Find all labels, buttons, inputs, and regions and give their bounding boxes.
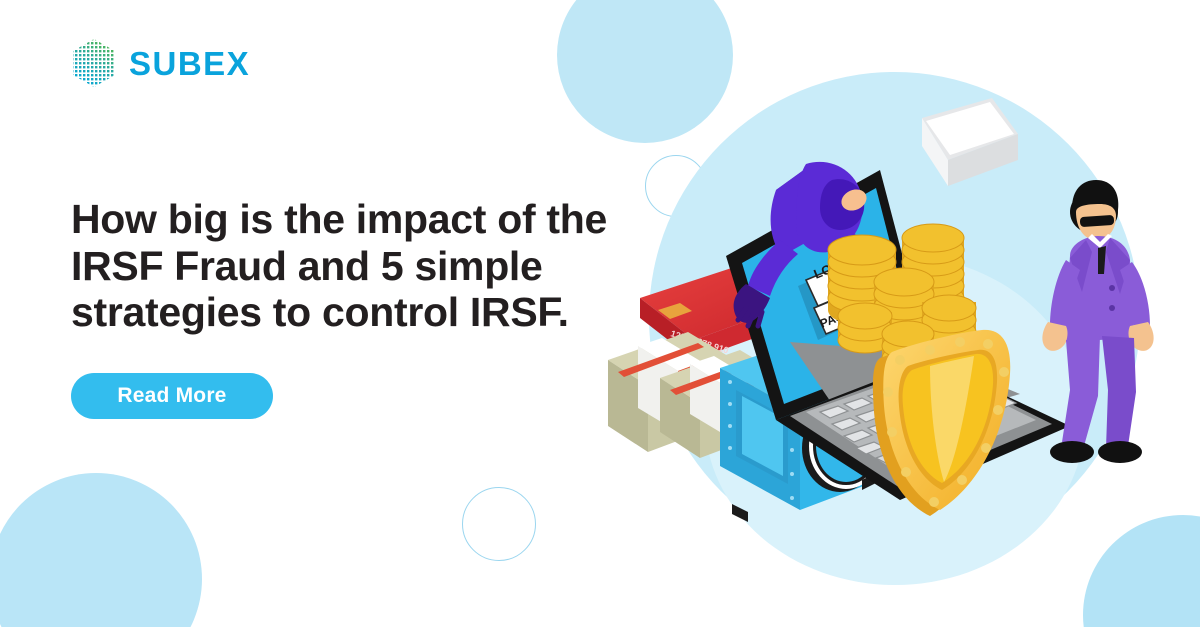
decorative-ring-bottom-center bbox=[462, 487, 536, 561]
headline-line-1: How big is the impact of the bbox=[71, 196, 671, 243]
read-more-button[interactable]: Read More bbox=[71, 373, 273, 419]
decorative-circle-bottom-left bbox=[0, 473, 202, 627]
man-in-purple-suit bbox=[1042, 180, 1153, 463]
headline-line-3: strategies to control IRSF. bbox=[71, 289, 671, 336]
envelope-icon bbox=[922, 98, 1018, 186]
promo-banner: SUBEX How big is the impact of the IRSF … bbox=[0, 0, 1200, 627]
brand-wordmark: SUBEX bbox=[129, 47, 250, 80]
cyber-fraud-illustration: 1234 5678 910 LOREM IPSUM BANK bbox=[600, 60, 1200, 540]
page-title: How big is the impact of the IRSF Fraud … bbox=[71, 196, 671, 336]
brand-logo[interactable]: SUBEX bbox=[71, 38, 250, 88]
subex-hexagon-dots-logo-icon bbox=[71, 38, 117, 88]
headline-line-2: IRSF Fraud and 5 simple bbox=[71, 243, 671, 290]
